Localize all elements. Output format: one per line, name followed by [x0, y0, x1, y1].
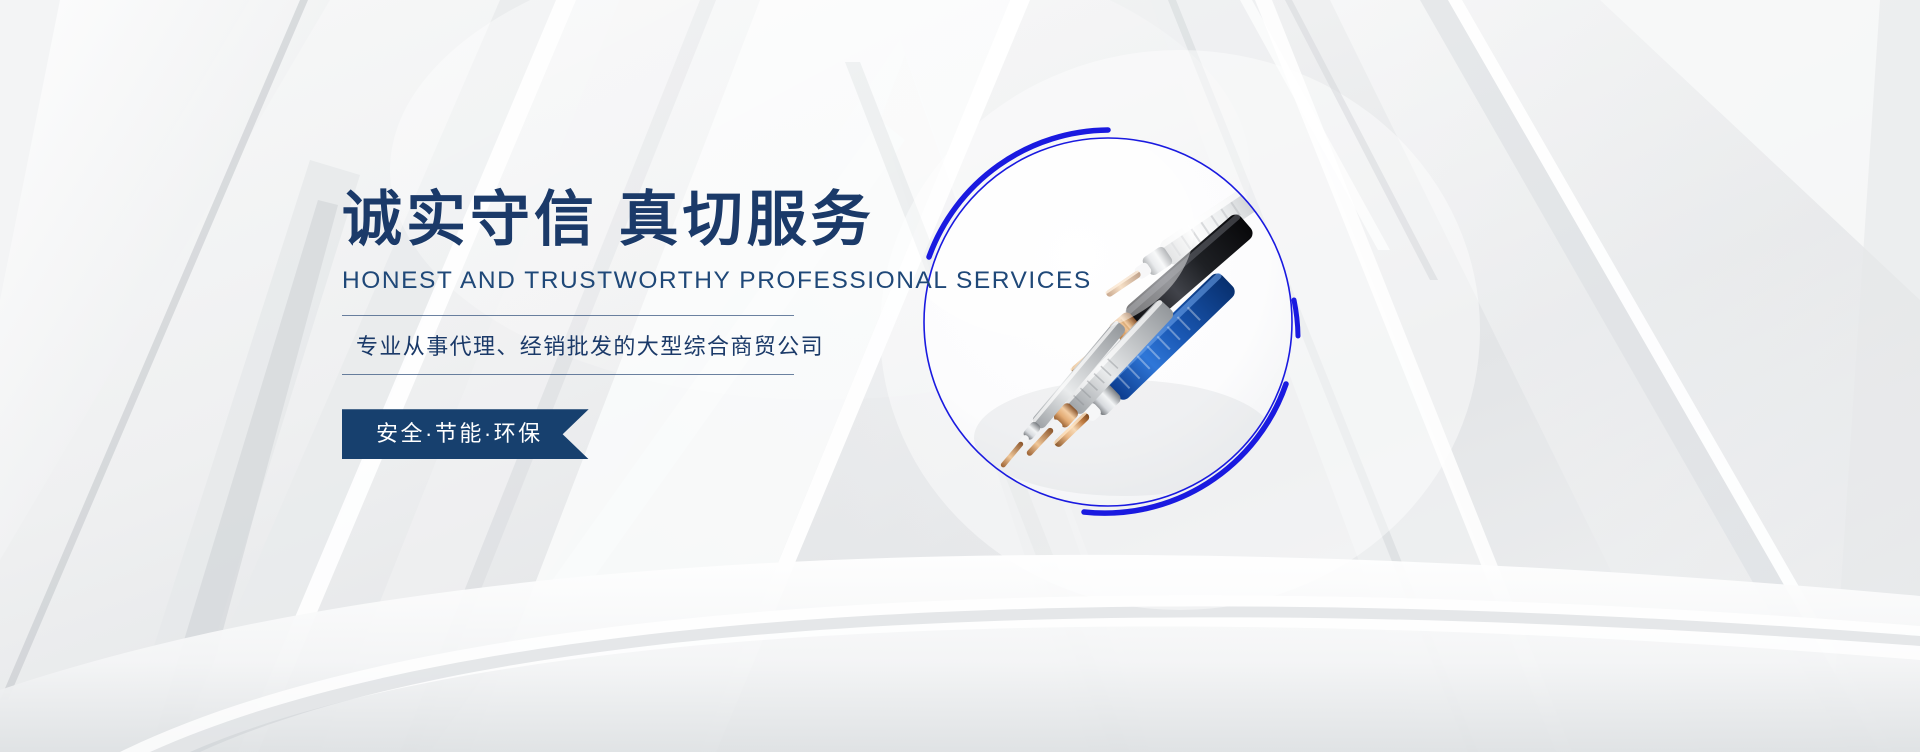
feature-badge: 安全·节能·环保: [342, 409, 589, 459]
blue-circle-ring: [908, 122, 1308, 522]
banner-description-chinese: 专业从事代理、经销批发的大型综合商贸公司: [342, 316, 794, 374]
banner-divider-group: 专业从事代理、经销批发的大型综合商贸公司: [342, 315, 794, 375]
banner-headline: 诚实守信 真切服务: [342, 186, 962, 253]
thick-arc-bottom: [1084, 384, 1286, 513]
arc-accent-right: [1294, 300, 1298, 336]
banner-text-block: 诚实守信 真切服务 HONEST AND TRUSTWORTHY PROFESS…: [342, 186, 962, 459]
divider-top: [342, 315, 794, 316]
product-medallion: [908, 122, 1308, 522]
hero-banner: 诚实守信 真切服务 HONEST AND TRUSTWORTHY PROFESS…: [0, 0, 1920, 752]
banner-subheadline-english: HONEST AND TRUSTWORTHY PROFESSIONAL SERV…: [342, 267, 962, 295]
divider-bottom: [342, 374, 794, 375]
